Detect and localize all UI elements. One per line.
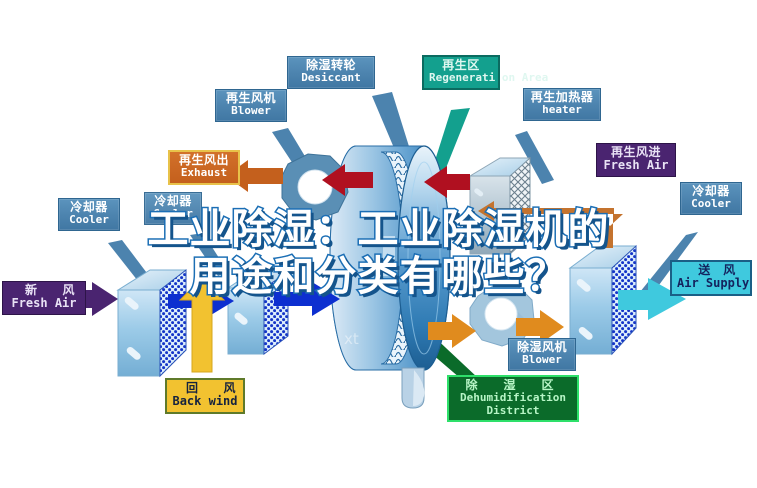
label-desiccant-wheel-cn: 除湿转轮 xyxy=(293,59,369,72)
label-dehum-blower-en: Blower xyxy=(514,354,570,366)
label-back-wind[interactable]: 回 风 Back wind xyxy=(165,378,245,414)
mid-cooler xyxy=(228,272,288,354)
label-back-wind-en: Back wind xyxy=(172,395,238,408)
label-cooler-left[interactable]: 冷却器 Cooler xyxy=(58,198,120,231)
label-regen-blower-cn: 再生风机 xyxy=(221,92,281,105)
label-dehum-district[interactable]: 除 湿 区 Dehumidification District xyxy=(447,375,579,422)
label-regen-area-en: Regenerati on Area xyxy=(429,72,493,84)
label-air-supply-en: Air Supply xyxy=(677,277,745,290)
watermark: xt xyxy=(344,330,359,348)
condensate-tray xyxy=(402,368,424,408)
pre-cooler xyxy=(118,270,186,376)
label-dehum-district-en1: Dehumidification xyxy=(454,392,572,404)
label-regen-heater-cn: 再生加热器 xyxy=(529,91,595,104)
label-cooler-right-en: Cooler xyxy=(686,198,736,210)
label-regen-blower-en: Blower xyxy=(221,105,281,117)
label-cooler-mid[interactable]: 冷却器 Cooler xyxy=(144,192,202,225)
label-dehum-blower[interactable]: 除湿风机 Blower xyxy=(508,338,576,371)
label-fresh-air-cn: 新 风 xyxy=(8,284,80,297)
label-cooler-mid-cn: 冷却器 xyxy=(150,195,196,208)
label-regen-heater[interactable]: 再生加热器 heater xyxy=(523,88,601,121)
label-regen-blower[interactable]: 再生风机 Blower xyxy=(215,89,287,122)
label-fresh-air[interactable]: 新 风 Fresh Air xyxy=(2,281,86,315)
dehumidification-blower xyxy=(470,284,534,346)
label-fresh-air-en: Fresh Air xyxy=(8,297,80,310)
label-cooler-right-cn: 冷却器 xyxy=(686,185,736,198)
label-cooler-left-en: Cooler xyxy=(64,214,114,226)
label-back-wind-cn: 回 风 xyxy=(172,382,238,395)
label-regen-heater-en: heater xyxy=(529,104,595,116)
label-regen-fresh-air-en: Fresh Air xyxy=(602,159,670,172)
label-desiccant-wheel[interactable]: 除湿转轮 Desiccant xyxy=(287,56,375,89)
label-dehum-district-cn: 除 湿 区 xyxy=(454,379,572,392)
label-regen-area[interactable]: 再生区 Regenerati on Area xyxy=(422,55,500,90)
label-air-supply[interactable]: 送 风 Air Supply xyxy=(670,260,752,296)
dehumidifier-schematic: .leader { stroke:#3f7ba6; stroke-width:2… xyxy=(0,0,757,488)
label-regen-fresh-air-cn: 再生风进 xyxy=(602,146,670,159)
label-cooler-right[interactable]: 冷却器 Cooler xyxy=(680,182,742,215)
label-dehum-district-en2: District xyxy=(454,405,572,417)
label-air-supply-cn: 送 风 xyxy=(677,264,745,277)
label-regen-exhaust-cn: 再生风出 xyxy=(175,154,233,167)
label-cooler-mid-en: Cooler xyxy=(150,208,196,220)
label-dehum-blower-cn: 除湿风机 xyxy=(514,341,570,354)
regeneration-heater xyxy=(470,158,530,254)
label-desiccant-wheel-en: Desiccant xyxy=(293,72,369,84)
label-cooler-left-cn: 冷却器 xyxy=(64,201,114,214)
diagram-canvas: .leader { stroke:#3f7ba6; stroke-width:2… xyxy=(0,0,757,488)
label-regen-exhaust[interactable]: 再生风出 Exhaust xyxy=(168,150,240,185)
label-regen-fresh-air[interactable]: 再生风进 Fresh Air xyxy=(596,143,676,177)
arrow-regen-intake xyxy=(597,214,623,248)
label-regen-exhaust-en: Exhaust xyxy=(175,167,233,179)
leader-cooler-mid xyxy=(190,233,228,276)
label-regen-area-cn: 再生区 xyxy=(429,59,493,72)
